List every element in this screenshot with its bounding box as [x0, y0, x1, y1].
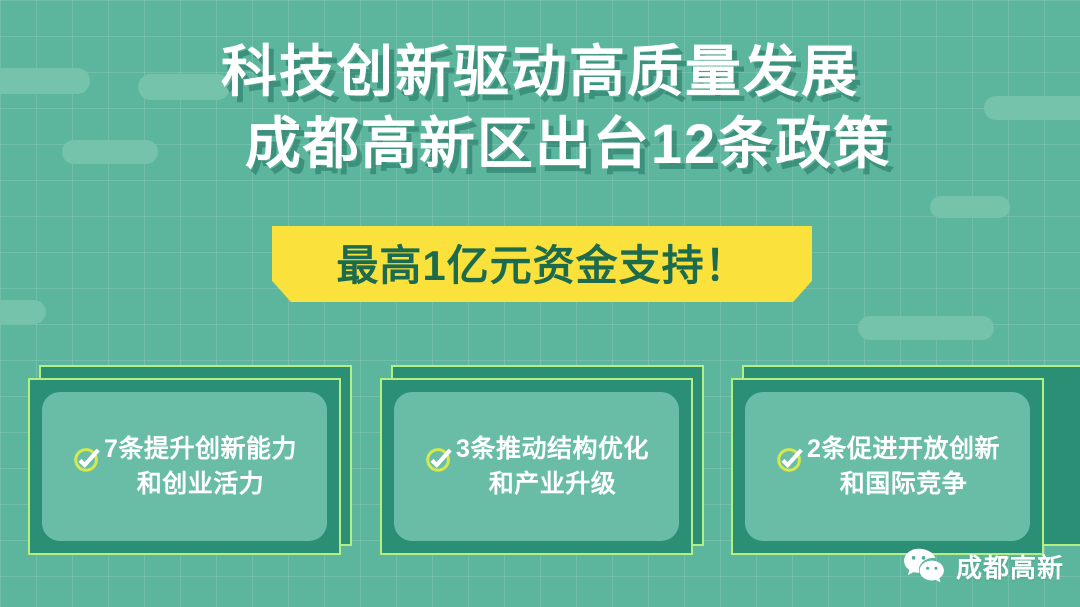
card-line-2: 和创业活力	[104, 467, 297, 502]
policy-card: 2条促进开放创新 和国际竞争	[731, 365, 1044, 555]
card-front-frame: 7条提升创新能力 和创业活力	[28, 378, 341, 555]
poster-canvas: 科技创新驱动高质量发展 成都高新区出台12条政策 最高1亿元资金支持！	[0, 0, 1080, 607]
page-title: 科技创新驱动高质量发展 成都高新区出台12条政策	[0, 36, 1080, 180]
check-circle-icon	[775, 443, 805, 473]
title-line-2: 成都高新区出台12条政策	[0, 108, 1080, 180]
card-inner-panel: 2条促进开放创新 和国际竞争	[745, 392, 1030, 541]
card-inner-panel: 7条提升创新能力 和创业活力	[42, 392, 327, 541]
card-front-frame: 2条促进开放创新 和国际竞争	[731, 378, 1044, 555]
card-text: 3条推动结构优化 和产业升级	[456, 432, 649, 502]
card-inner-panel: 3条推动结构优化 和产业升级	[394, 392, 679, 541]
wechat-icon	[902, 547, 946, 585]
policy-card: 7条提升创新能力 和创业活力	[28, 365, 341, 555]
title-line-1: 科技创新驱动高质量发展	[0, 36, 1080, 108]
card-text: 7条提升创新能力 和创业活力	[104, 432, 297, 502]
card-line-1: 3条推动结构优化	[456, 435, 649, 463]
check-circle-icon	[72, 443, 102, 473]
ribbon-shape: 最高1亿元资金支持！	[272, 226, 812, 302]
card-content: 7条提升创新能力 和创业活力	[42, 432, 327, 502]
watermark-label: 成都高新	[956, 548, 1064, 585]
policy-card: 3条推动结构优化 和产业升级	[380, 365, 693, 555]
card-text: 2条促进开放创新 和国际竞争	[807, 432, 1000, 502]
card-line-2: 和产业升级	[456, 467, 649, 502]
card-line-1: 2条促进开放创新	[807, 435, 1000, 463]
ribbon-label: 最高1亿元资金支持！	[336, 232, 747, 293]
card-line-2: 和国际竞争	[807, 467, 1000, 502]
check-circle-icon	[424, 443, 454, 473]
card-front-frame: 3条推动结构优化 和产业升级	[380, 378, 693, 555]
watermark: 成都高新	[902, 547, 1064, 585]
card-content: 2条促进开放创新 和国际竞争	[745, 432, 1030, 502]
highlight-ribbon: 最高1亿元资金支持！	[272, 226, 812, 302]
card-line-1: 7条提升创新能力	[104, 435, 297, 463]
card-content: 3条推动结构优化 和产业升级	[394, 432, 679, 502]
